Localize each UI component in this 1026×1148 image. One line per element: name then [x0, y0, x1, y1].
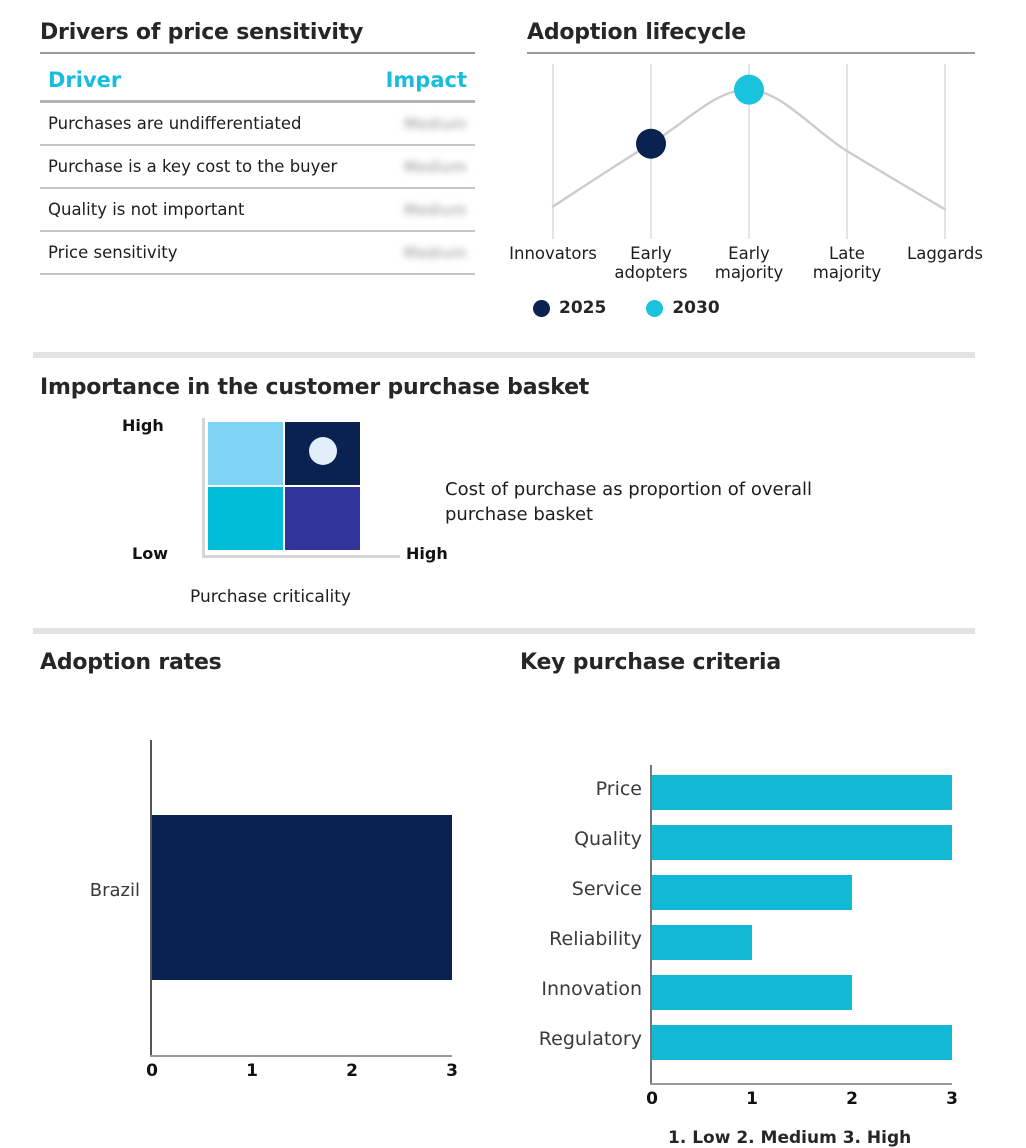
adoption-x-tick-3: 3	[446, 1061, 458, 1081]
legend-item-2030[interactable]: 2030	[646, 298, 719, 318]
bar-reliability[interactable]	[652, 925, 752, 960]
adoption-x-axis-line	[150, 1055, 452, 1057]
lifecycle-x-axis-labels: InnovatorsEarlyadoptersEarlymajorityLate…	[527, 244, 975, 292]
bar-innovation[interactable]	[652, 975, 852, 1010]
cell-driver: Purchase is a key cost to the buyer	[40, 145, 365, 188]
adoption-category-label: Brazil	[90, 880, 140, 901]
page-title: Drivers of price sensitivity	[40, 20, 475, 45]
cell-driver: Price sensitivity	[40, 231, 365, 274]
lifecycle-legend: 20252030	[527, 298, 975, 318]
criteria-row-reliability: Reliability	[520, 918, 990, 968]
criteria-row-price: Price	[520, 768, 990, 818]
criteria-row-service: Service	[520, 868, 990, 918]
adoption-lifecycle-title: Adoption lifecycle	[527, 20, 975, 45]
quadrant-top-left[interactable]	[208, 422, 283, 485]
matrix-quadrants	[208, 422, 360, 550]
position-marker-icon	[309, 437, 337, 465]
redacted-impact-value: Medium	[404, 201, 467, 219]
marker-2030[interactable]	[734, 75, 764, 105]
criteria-x-axis-line	[650, 1083, 952, 1085]
lifecycle-tick-laggards: Laggards	[907, 244, 983, 263]
lifecycle-curve-svg	[527, 62, 975, 242]
key-purchase-criteria-chart: PriceQualityServiceReliabilityInnovation…	[520, 703, 990, 1033]
bar-price[interactable]	[652, 775, 952, 810]
adoption-rates-title: Adoption rates	[40, 650, 480, 675]
cell-driver: Quality is not important	[40, 188, 365, 231]
drivers-table-body: Purchases are undifferentiatedMediumPurc…	[40, 102, 475, 275]
criteria-x-tick-3: 3	[946, 1089, 958, 1109]
cell-driver: Purchases are undifferentiated	[40, 102, 365, 146]
criteria-x-tick-1: 1	[746, 1089, 758, 1109]
key-purchase-criteria-panel: Key purchase criteria PriceQualityServic…	[520, 650, 990, 1033]
importance-purchase-basket-panel: Importance in the customer purchase bask…	[40, 375, 980, 622]
drivers-of-price-sensitivity-panel: Drivers of price sensitivity Driver Impa…	[40, 20, 475, 275]
matrix-x-label-high: High	[406, 544, 448, 563]
lifecycle-plot	[527, 62, 975, 242]
lifecycle-tick-late-majority: Latemajority	[813, 244, 881, 282]
importance-title: Importance in the customer purchase bask…	[40, 375, 980, 400]
cell-impact: Medium	[365, 145, 475, 188]
table-header-row: Driver Impact	[40, 68, 475, 102]
lifecycle-tick-innovators: Innovators	[509, 244, 597, 263]
column-header-impact: Impact	[365, 68, 475, 102]
criteria-row-regulatory: Regulatory	[520, 1018, 990, 1068]
criteria-x-tick-2: 2	[846, 1089, 858, 1109]
criteria-label-regulatory: Regulatory	[539, 1028, 642, 1050]
matrix-x-axis-title: Purchase criticality	[190, 587, 351, 607]
criteria-label-price: Price	[596, 778, 642, 800]
bar-brazil[interactable]	[152, 815, 452, 980]
adoption-x-tick-1: 1	[246, 1061, 258, 1081]
criteria-label-service: Service	[572, 878, 642, 900]
legend-label: 2025	[559, 298, 606, 318]
marker-2025[interactable]	[636, 129, 666, 159]
cell-impact: Medium	[365, 102, 475, 146]
legend-label: 2030	[672, 298, 719, 318]
criteria-label-quality: Quality	[574, 828, 642, 850]
table-row: Price sensitivityMedium	[40, 231, 475, 274]
data-point-markers	[636, 75, 764, 159]
redacted-impact-value: Medium	[404, 115, 467, 133]
matrix-x-axis-line	[202, 555, 400, 558]
table-row: Purchases are undifferentiatedMedium	[40, 102, 475, 146]
adoption-rates-panel: Adoption rates Brazil 0123	[40, 650, 480, 1005]
slide-canvas: Drivers of price sensitivity Driver Impa…	[0, 0, 1026, 1124]
bar-service[interactable]	[652, 875, 852, 910]
adoption-rates-chart: Brazil 0123	[40, 675, 480, 1005]
criteria-row-quality: Quality	[520, 818, 990, 868]
table-row: Quality is not importantMedium	[40, 188, 475, 231]
cell-impact: Medium	[365, 231, 475, 274]
title-underline	[40, 52, 475, 54]
section-divider-2	[33, 628, 975, 634]
matrix-y-axis-line	[202, 418, 205, 558]
drivers-table: Driver Impact Purchases are undifferenti…	[40, 68, 475, 275]
criteria-x-tick-0: 0	[646, 1089, 658, 1109]
matrix-y-label-low: Low	[132, 544, 168, 563]
matrix-annotation-text: Cost of purchase as proportion of overal…	[445, 477, 845, 527]
lifecycle-tick-early-majority: Earlymajority	[715, 244, 783, 282]
legend-item-2025[interactable]: 2025	[533, 298, 606, 318]
quadrant-bottom-left[interactable]	[208, 487, 283, 550]
criteria-footnote: 1. Low 2. Medium 3. High	[668, 1128, 911, 1148]
column-header-driver: Driver	[40, 68, 365, 102]
quadrant-bottom-right[interactable]	[285, 487, 360, 550]
two-by-two-matrix-wrapper: High Low High Purchase criticality Cost …	[40, 422, 980, 622]
redacted-impact-value: Medium	[404, 244, 467, 262]
bar-quality[interactable]	[652, 825, 952, 860]
adoption-lifecycle-panel: Adoption lifecycle InnovatorsEarlyadopte…	[527, 20, 975, 318]
table-row: Purchase is a key cost to the buyerMediu…	[40, 145, 475, 188]
criteria-label-reliability: Reliability	[549, 928, 642, 950]
redacted-impact-value: Medium	[404, 158, 467, 176]
criteria-row-innovation: Innovation	[520, 968, 990, 1018]
bar-regulatory[interactable]	[652, 1025, 952, 1060]
key-purchase-criteria-title: Key purchase criteria	[520, 650, 990, 675]
lifecycle-tick-early-adopters: Earlyadopters	[614, 244, 687, 282]
legend-dot-icon	[646, 300, 663, 317]
legend-dot-icon	[533, 300, 550, 317]
criteria-label-innovation: Innovation	[541, 978, 642, 1000]
title-underline	[527, 52, 975, 54]
adoption-x-tick-0: 0	[146, 1061, 158, 1081]
adoption-x-tick-2: 2	[346, 1061, 358, 1081]
quadrant-top-right[interactable]	[285, 422, 360, 485]
cell-impact: Medium	[365, 188, 475, 231]
matrix-y-label-high: High	[122, 416, 164, 435]
section-divider-1	[33, 352, 975, 358]
